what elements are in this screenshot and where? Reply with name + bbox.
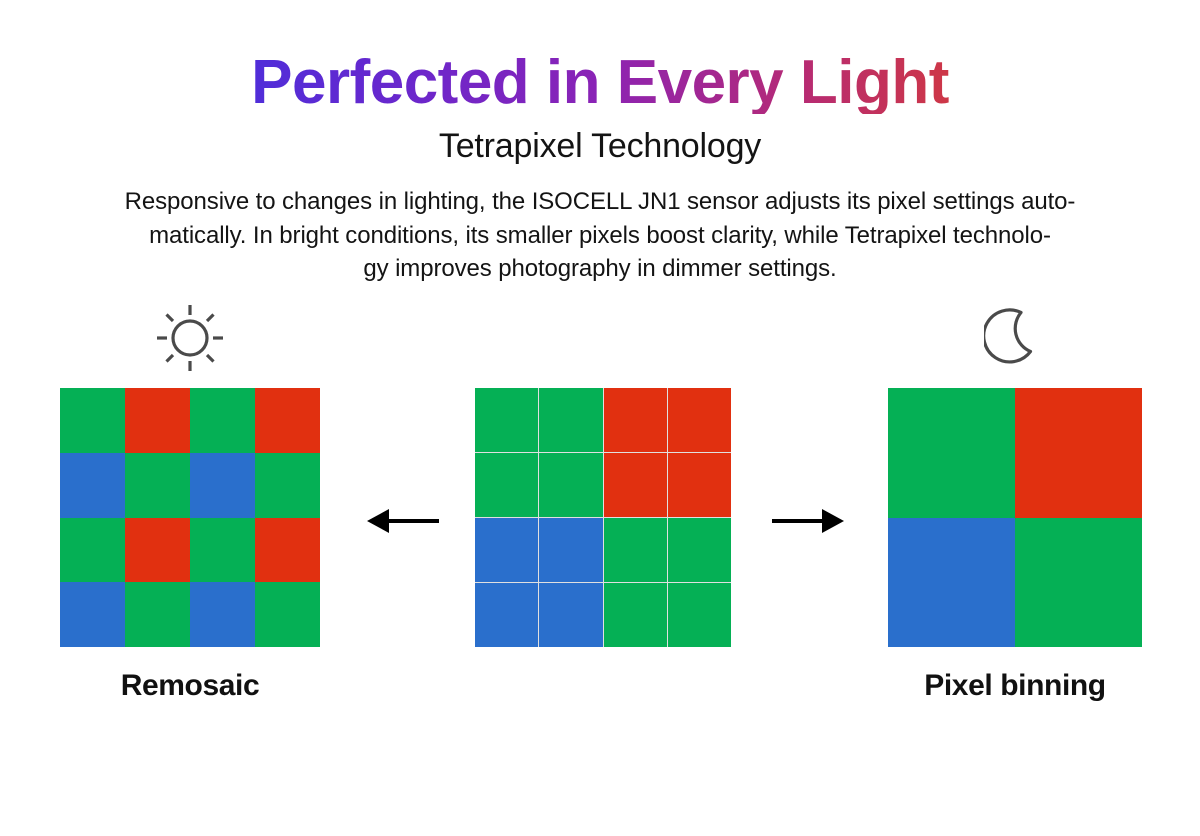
pixel-cell	[125, 518, 190, 583]
pixel-cell	[475, 388, 538, 452]
pixel-cell	[668, 583, 731, 647]
pixel-grid-remosaic	[60, 388, 320, 647]
caption-remosaic: Remosaic	[60, 647, 320, 703]
arrow-right-icon	[768, 503, 848, 539]
pixel-cell	[539, 583, 602, 647]
caption-pixel-binning: Pixel binning	[888, 647, 1142, 703]
pixel-cell	[1015, 518, 1142, 648]
pixel-cell	[60, 453, 125, 518]
description-paragraph: Responsive to changes in lighting, the I…	[30, 165, 1170, 284]
pixel-cell	[604, 583, 667, 647]
pixel-cell	[125, 582, 190, 647]
pixel-cell	[475, 518, 538, 582]
low-light-condition	[888, 288, 1142, 388]
panel-pixel-binning: Pixel binning	[888, 288, 1142, 703]
pixel-cell	[604, 388, 667, 452]
page-title: Perfected in Every Light	[0, 0, 1200, 114]
pixel-cell	[190, 518, 255, 583]
paragraph-line-3: gy improves photography in dimmer settin…	[30, 252, 1170, 285]
header-block: Perfected in Every Light Tetrapixel Tech…	[0, 0, 1200, 285]
pixel-cell	[190, 453, 255, 518]
bright-light-condition	[60, 288, 320, 388]
pixel-cell	[1015, 388, 1142, 518]
pixel-cell	[604, 453, 667, 517]
paragraph-line-2: matically. In bright conditions, its sma…	[30, 219, 1170, 252]
center-condition-spacer	[475, 288, 731, 388]
pixel-grid-tetrapixel	[475, 388, 731, 647]
pixel-cell	[255, 582, 320, 647]
pixel-cell	[475, 453, 538, 517]
pixel-cell	[255, 518, 320, 583]
pixel-cell	[888, 388, 1015, 518]
pixel-cell	[190, 388, 255, 453]
pixel-cell	[888, 518, 1015, 648]
pixel-cell	[475, 583, 538, 647]
page-subtitle: Tetrapixel Technology	[0, 114, 1200, 165]
pixel-cell	[125, 453, 190, 518]
sun-icon	[154, 302, 226, 374]
paragraph-line-1: Responsive to changes in lighting, the I…	[30, 185, 1170, 218]
pixel-cell	[190, 582, 255, 647]
pixel-cell	[60, 518, 125, 583]
panel-tetrapixel-sensor	[475, 288, 731, 669]
pixel-cell	[539, 518, 602, 582]
tetrapixel-diagram: Remosaic	[0, 288, 1200, 748]
pixel-cell	[539, 453, 602, 517]
arrow-left-icon	[363, 503, 443, 539]
pixel-cell	[668, 453, 731, 517]
pixel-cell	[668, 388, 731, 452]
moon-icon	[984, 304, 1046, 372]
pixel-cell	[60, 582, 125, 647]
pixel-grid-binned	[888, 388, 1142, 647]
pixel-cell	[604, 518, 667, 582]
pixel-cell	[60, 388, 125, 453]
pixel-cell	[255, 388, 320, 453]
pixel-cell	[668, 518, 731, 582]
pixel-cell	[255, 453, 320, 518]
pixel-cell	[125, 388, 190, 453]
panel-remosaic: Remosaic	[60, 288, 320, 703]
pixel-cell	[539, 388, 602, 452]
